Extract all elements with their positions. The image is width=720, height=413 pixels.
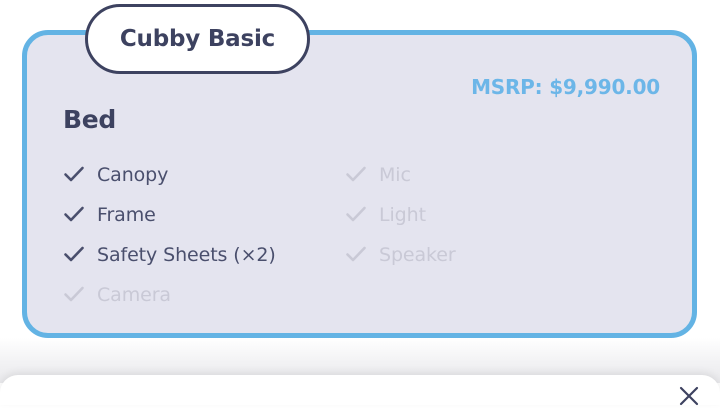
close-icon — [678, 385, 700, 411]
feature-row[interactable]: Light — [345, 195, 645, 235]
feature-label: Mic — [379, 164, 411, 186]
check-icon — [345, 165, 371, 185]
feature-label: Canopy — [97, 164, 168, 186]
check-icon — [63, 205, 89, 225]
check-icon — [63, 245, 89, 265]
screen-root: Cubby Basic MSRP: $9,990.00 Bed CanopyFr… — [0, 0, 720, 405]
feature-list-right: MicLightSpeaker — [345, 155, 645, 275]
check-icon — [63, 285, 89, 305]
product-card: Cubby Basic MSRP: $9,990.00 Bed CanopyFr… — [22, 30, 697, 338]
section-heading-bed: Bed — [63, 105, 116, 134]
feature-list-left: CanopyFrameSafety Sheets (×2)Camera — [63, 155, 343, 315]
feature-label: Light — [379, 204, 426, 226]
feature-row[interactable]: Frame — [63, 195, 343, 235]
feature-label: Camera — [97, 284, 171, 306]
product-title-label: Cubby Basic — [120, 26, 275, 52]
feature-label: Safety Sheets (×2) — [97, 244, 276, 266]
feature-row[interactable]: Canopy — [63, 155, 343, 195]
check-icon — [345, 245, 371, 265]
feature-row[interactable]: Safety Sheets (×2) — [63, 235, 343, 275]
check-icon — [345, 205, 371, 225]
product-title-badge: Cubby Basic — [85, 4, 310, 74]
check-icon — [63, 165, 89, 185]
msrp-price-label: MSRP: $9,990.00 — [471, 75, 660, 99]
feature-row[interactable]: Mic — [345, 155, 645, 195]
feature-row[interactable]: Speaker — [345, 235, 645, 275]
close-button[interactable] — [674, 383, 704, 413]
bottom-sheet — [0, 375, 720, 405]
feature-row[interactable]: Camera — [63, 275, 343, 315]
feature-label: Frame — [97, 204, 156, 226]
feature-label: Speaker — [379, 244, 456, 266]
